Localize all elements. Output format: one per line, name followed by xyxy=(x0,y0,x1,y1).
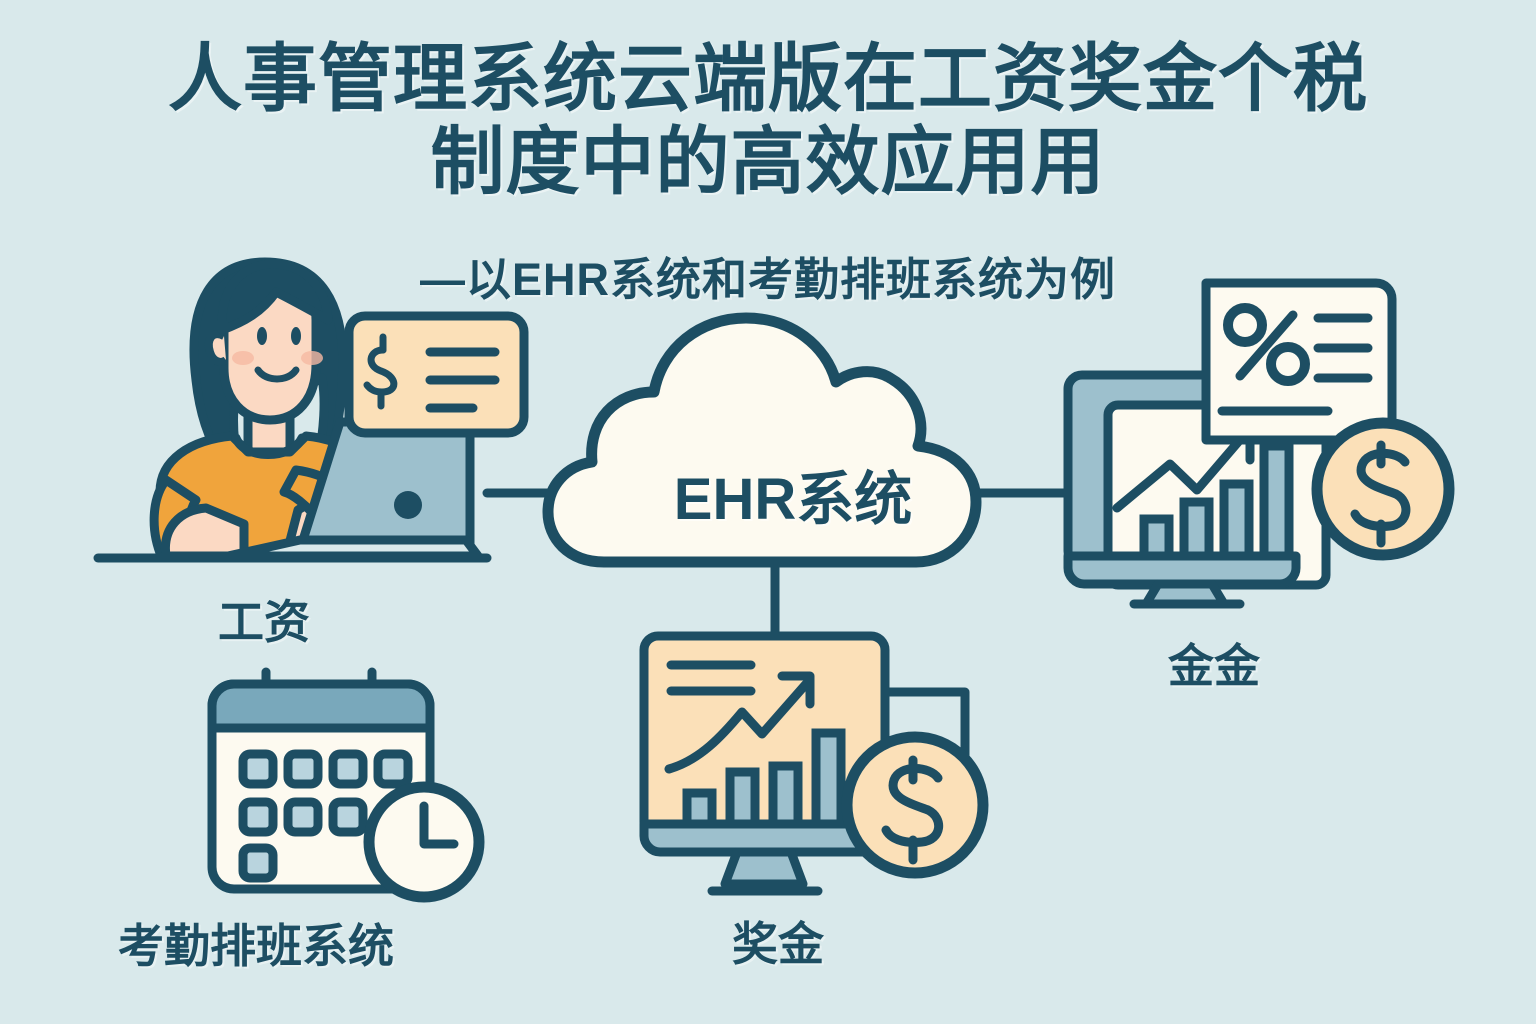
node-label-bonus: 奖金 xyxy=(732,908,824,974)
calendar-day-cell xyxy=(288,802,318,832)
person-eye-left xyxy=(257,327,267,345)
bonus-monitor-stand xyxy=(725,852,803,884)
calendar-day-cell xyxy=(288,754,318,784)
salary-illustration xyxy=(98,262,524,558)
calendar-day-cell xyxy=(243,754,273,784)
person-blush-left xyxy=(232,351,254,365)
person-eye-right xyxy=(291,327,301,345)
tax-bar xyxy=(1264,446,1289,565)
bonus-dollar-coin-icon xyxy=(847,737,983,873)
bonus-illustration xyxy=(644,636,983,891)
paycheck-card-icon xyxy=(349,316,524,433)
person-forearm-left xyxy=(165,508,244,556)
calendar-header-band xyxy=(212,684,430,728)
calendar-day-cell xyxy=(378,754,408,784)
node-label-tax: 金金 xyxy=(1168,630,1260,696)
person-blush-right xyxy=(301,351,323,365)
node-label-salary: 工资 xyxy=(218,586,310,652)
tax-illustration xyxy=(1068,283,1449,604)
clock-icon xyxy=(369,787,479,897)
person-ear xyxy=(209,334,226,362)
calendar-day-cell xyxy=(243,802,273,832)
laptop-logo xyxy=(394,491,422,519)
calendar-day-cell xyxy=(243,848,273,878)
node-label-attendance: 考勤排班系统 xyxy=(118,910,394,976)
calendar-day-cell xyxy=(333,754,363,784)
infographic-canvas: 人事管理系统云端版在工资奖金个税 制度中的高效应用用 —以EHR系统和考勤排班系… xyxy=(0,0,1536,1024)
attendance-illustration xyxy=(212,672,479,897)
tax-dollar-coin-icon xyxy=(1317,423,1449,555)
cloud-label: EHR系统 xyxy=(598,452,988,536)
calendar-day-cell xyxy=(333,802,363,832)
